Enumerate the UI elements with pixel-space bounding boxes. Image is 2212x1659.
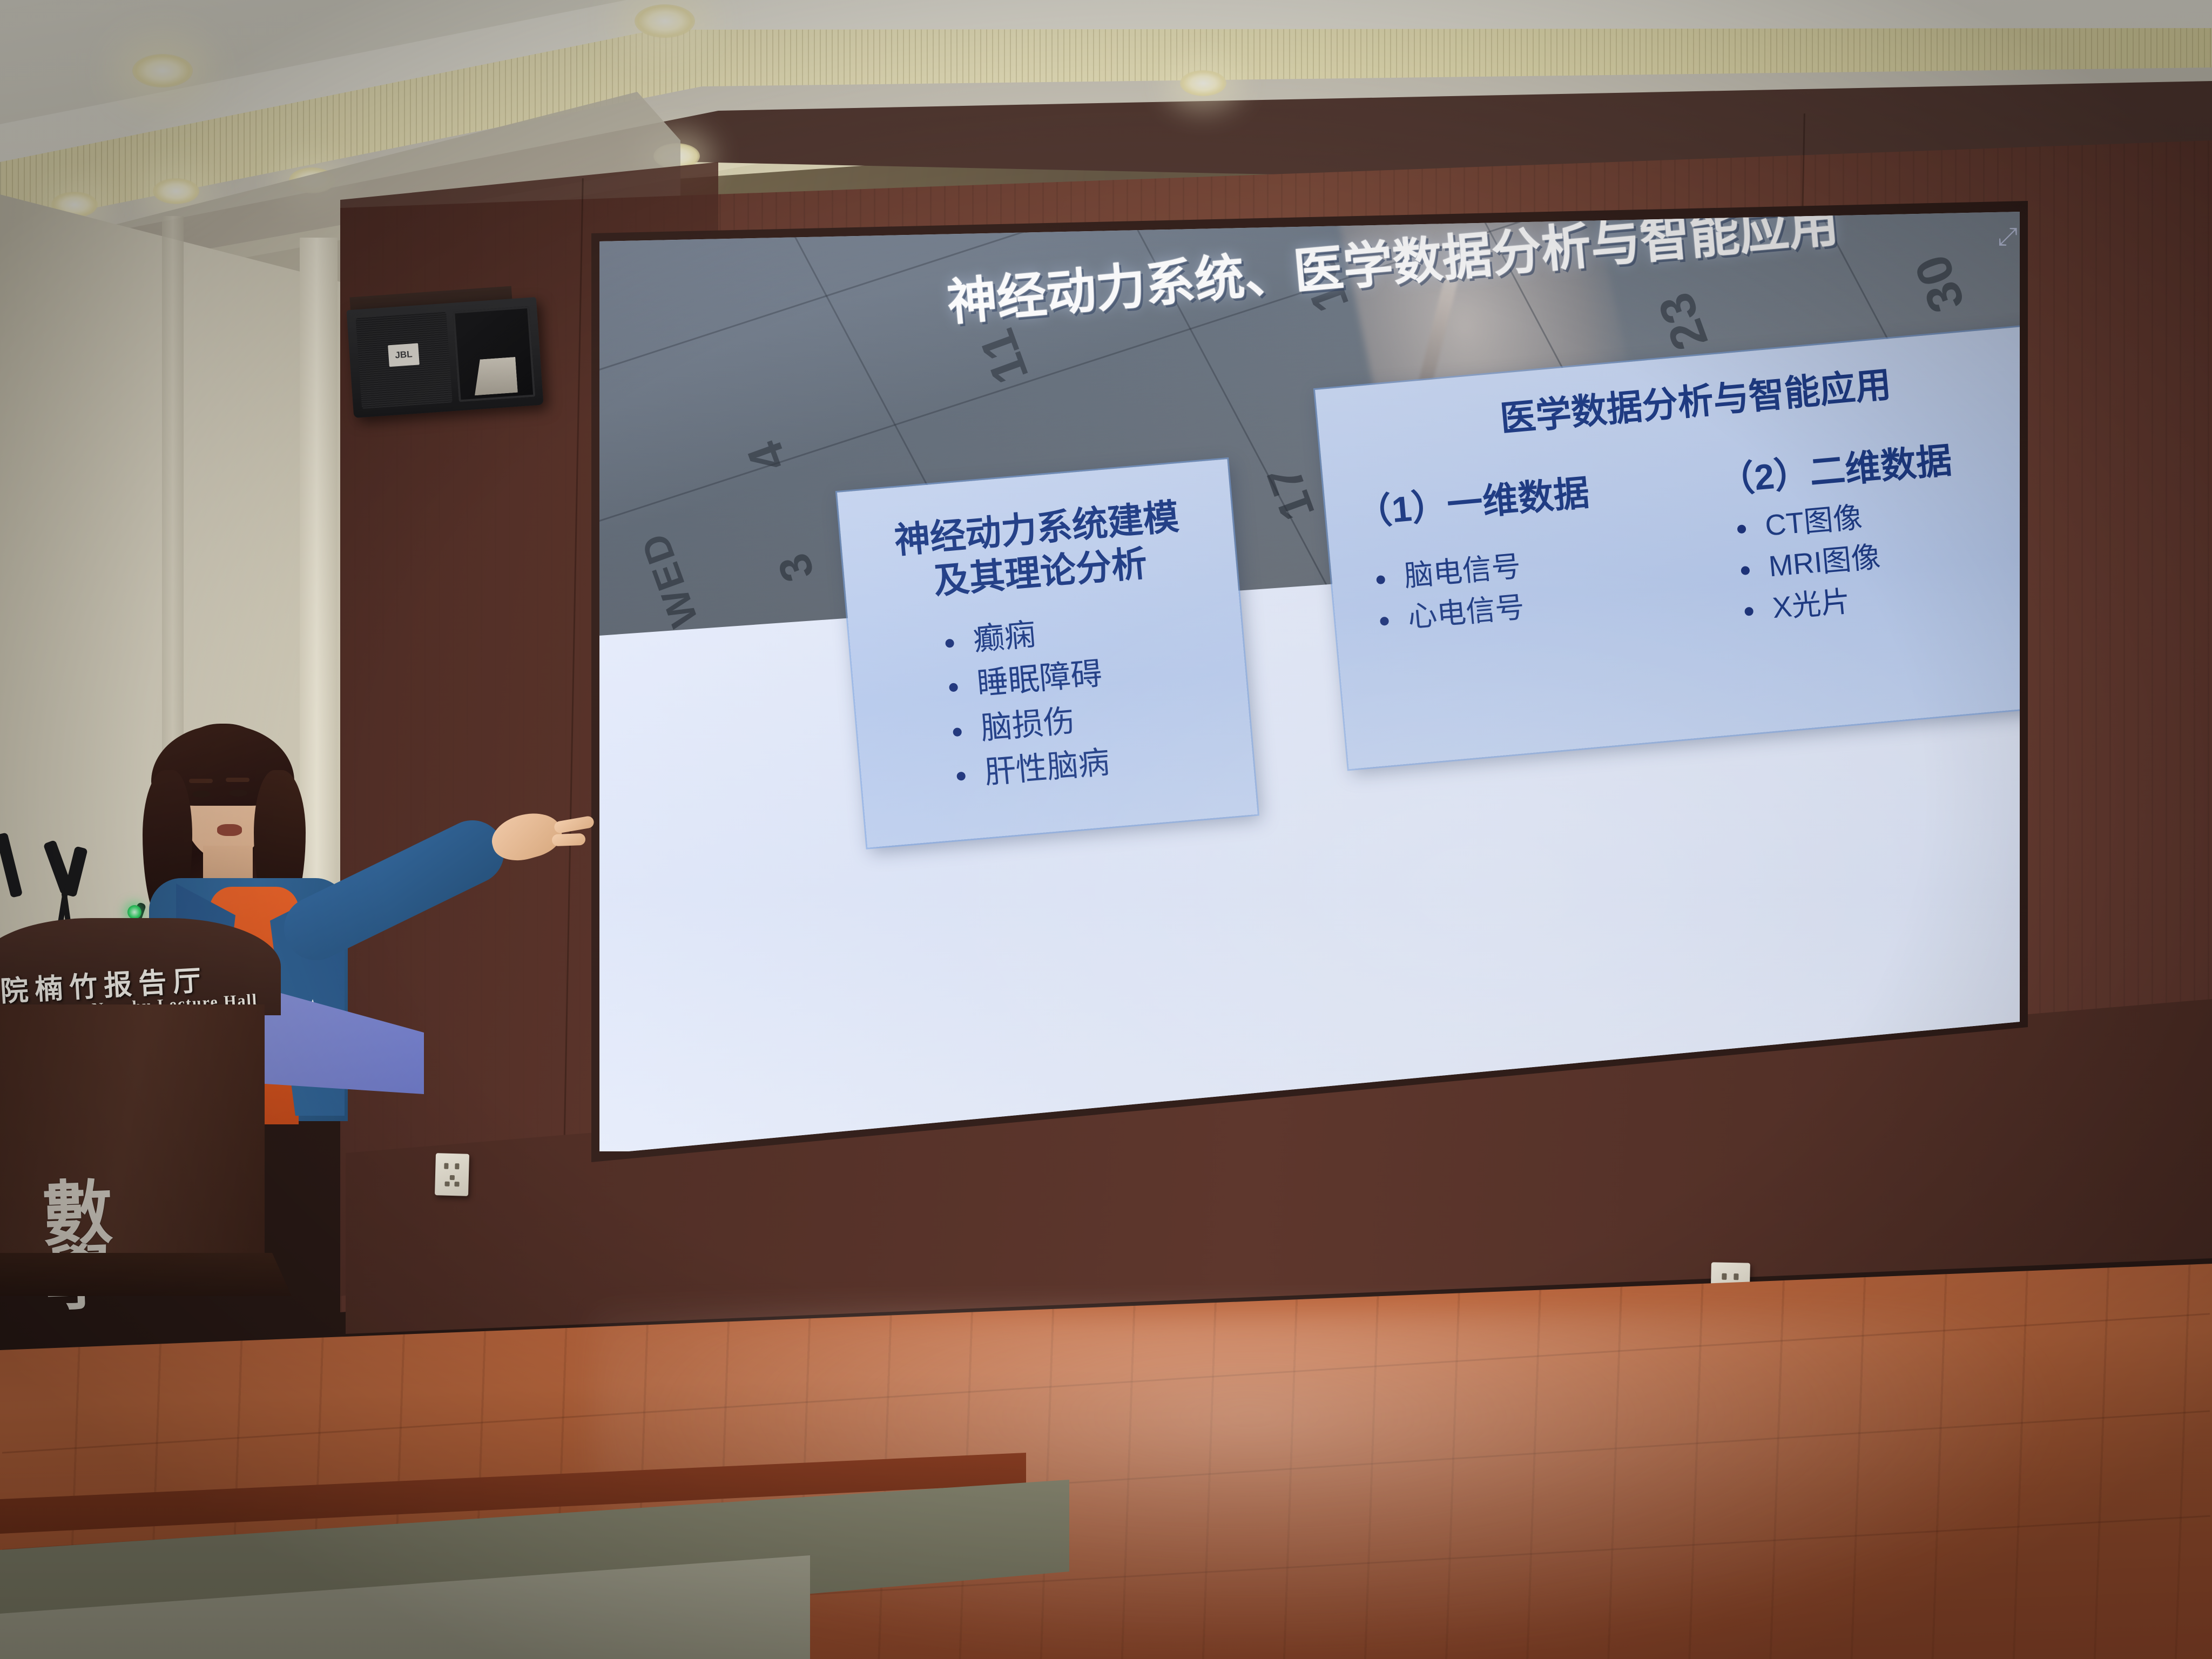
calendar-day-number: 3 (767, 546, 825, 588)
lecture-hall-photo: JBL 18 11 4 23 30 17 10 16 3 9 WED (0, 0, 2212, 1659)
outlet-slot (455, 1163, 459, 1169)
slide-left-content-box: 神经动力系统建模 及其理论分析 癫痫 睡眠障碍 脑损伤 肝性脑病 (837, 459, 1258, 848)
lectern: 学院楠竹报告厅 of Mathematics, Nanzhu Lecture H… (0, 918, 308, 1285)
calendar-day-number: 17 (1256, 458, 1326, 528)
ceiling-downlight-icon (1180, 70, 1226, 96)
power-outlet-plate (435, 1153, 469, 1196)
calendar-day-number: 11 (968, 321, 1040, 391)
lectern-top: 学院楠竹报告厅 of Mathematics, Nanzhu Lecture H… (0, 918, 281, 1015)
presenter-eyebrow (226, 778, 249, 782)
presenter-eye (229, 790, 247, 797)
right-box-columns: （1）一维数据 脑电信号 心电信号 （2）二维数据 CT图像 MRI图像 X光片 (1324, 420, 2020, 667)
presenter-finger (552, 833, 586, 846)
outlet-slot (450, 1175, 455, 1180)
lectern-body: 數學 (0, 1004, 265, 1291)
calendar-weekday-label: WED (632, 526, 707, 632)
projection-screen: 18 11 4 23 30 17 10 16 3 9 WED 神经动力系统、医学… (599, 212, 2020, 1151)
outlet-slot (444, 1163, 448, 1169)
lectern-base (0, 1253, 292, 1296)
calendar-day-number: 30 (1904, 247, 1976, 320)
ceiling-downlight-icon (132, 54, 193, 87)
outlet-slot (1734, 1273, 1738, 1280)
presenter-mouth (217, 824, 242, 836)
column-2-bullet-list: CT图像 MRI图像 X光片 (1722, 480, 2020, 633)
wall-speaker: JBL (346, 297, 543, 418)
speaker-horn-icon (453, 306, 535, 402)
outlet-slot (454, 1182, 459, 1186)
left-box-bullet-list: 癫痫 睡眠障碍 脑损伤 肝性脑病 (849, 595, 1254, 806)
outlet-slot (1722, 1273, 1727, 1280)
slide-right-content-box: 医学数据分析与智能应用 （1）一维数据 脑电信号 心电信号 （2）二维数据 CT… (1315, 323, 2020, 770)
presenter-eye (192, 791, 211, 798)
speaker-brand-logo: JBL (388, 343, 420, 367)
ceiling-downlight-icon (635, 4, 695, 38)
ceiling-downlight-icon (153, 178, 199, 204)
column-1-heading: （1）一维数据 (1354, 455, 1689, 536)
right-box-column-1: （1）一维数据 脑电信号 心电信号 (1354, 455, 1700, 665)
calendar-day-number: 4 (736, 433, 799, 479)
calendar-day-number: 23 (1647, 285, 1719, 358)
column-1-bullet-list: 脑电信号 心电信号 (1360, 530, 1698, 642)
presenter-eyebrow (189, 779, 213, 783)
right-box-column-2: （2）二维数据 CT图像 MRI图像 X光片 (1716, 422, 2020, 632)
fullscreen-arrows-icon: ⤢ (1998, 224, 2015, 248)
outlet-slot (444, 1182, 449, 1186)
